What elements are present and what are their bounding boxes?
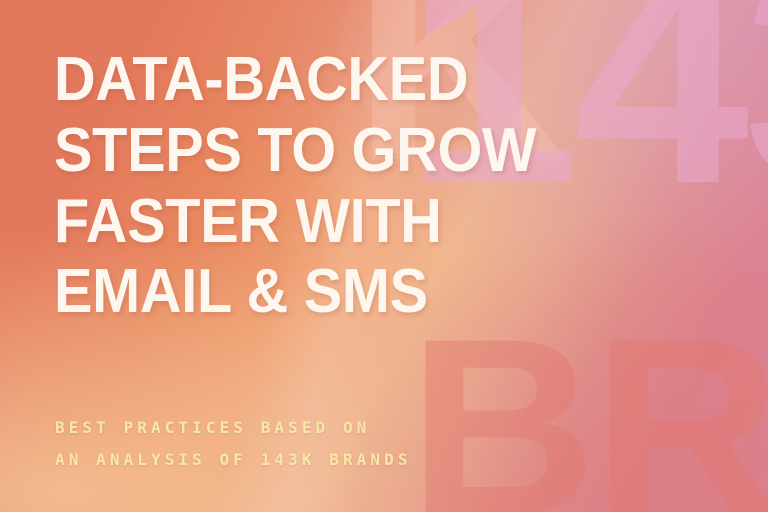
- title-slide: K 143 BRANDS DATA-BACKED STEPS TO GROW F…: [0, 0, 768, 512]
- slide-content: DATA-BACKED STEPS TO GROW FASTER WITH EM…: [0, 0, 768, 512]
- headline-line-1: DATA-BACKED: [54, 50, 491, 111]
- headline-line-2: STEPS TO GROW: [54, 121, 491, 182]
- page-subtitle: BEST PRACTICES BASED ON AN ANALYSIS OF 1…: [55, 420, 412, 484]
- subtitle-line-2: AN ANALYSIS OF 143K BRANDS: [55, 452, 412, 468]
- subtitle-line-1: BEST PRACTICES BASED ON: [55, 420, 412, 436]
- page-title: DATA-BACKED STEPS TO GROW FASTER WITH EM…: [54, 50, 524, 333]
- headline-line-4: EMAIL & SMS: [54, 262, 491, 323]
- headline-line-3: FASTER WITH: [54, 192, 491, 253]
